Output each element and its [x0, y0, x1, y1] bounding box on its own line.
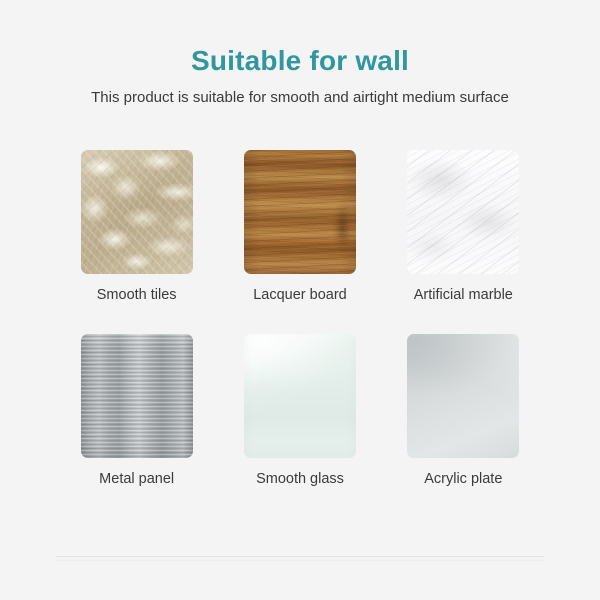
- material-label: Artificial marble: [414, 286, 513, 304]
- material-cell: Smooth glass: [237, 334, 362, 488]
- metal-panel-swatch: [81, 334, 193, 458]
- page-title: Suitable for wall: [0, 44, 600, 78]
- material-cell: Smooth tiles: [74, 150, 199, 304]
- page-subtitle: This product is suitable for smooth and …: [0, 88, 600, 108]
- material-label: Smooth glass: [256, 470, 344, 488]
- footer-divider: [56, 556, 544, 557]
- artificial-marble-swatch: [407, 150, 519, 274]
- footer-divider-secondary: [56, 560, 544, 561]
- material-label: Smooth tiles: [97, 286, 177, 304]
- smooth-tiles-swatch: [81, 150, 193, 274]
- material-label: Acrylic plate: [424, 470, 502, 488]
- lacquer-board-swatch: [244, 150, 356, 274]
- product-feature-page: Suitable for wall This product is suitab…: [0, 0, 600, 600]
- material-cell: Acrylic plate: [401, 334, 526, 488]
- smooth-glass-swatch: [244, 334, 356, 458]
- material-label: Metal panel: [99, 470, 174, 488]
- header: Suitable for wall This product is suitab…: [0, 0, 600, 108]
- material-grid: Smooth tiles Lacquer board Artificial ma…: [74, 108, 526, 488]
- material-cell: Lacquer board: [237, 150, 362, 304]
- material-cell: Metal panel: [74, 334, 199, 488]
- material-cell: Artificial marble: [401, 150, 526, 304]
- material-label: Lacquer board: [253, 286, 347, 304]
- acrylic-plate-swatch: [407, 334, 519, 458]
- footer-divider-group: [0, 556, 600, 564]
